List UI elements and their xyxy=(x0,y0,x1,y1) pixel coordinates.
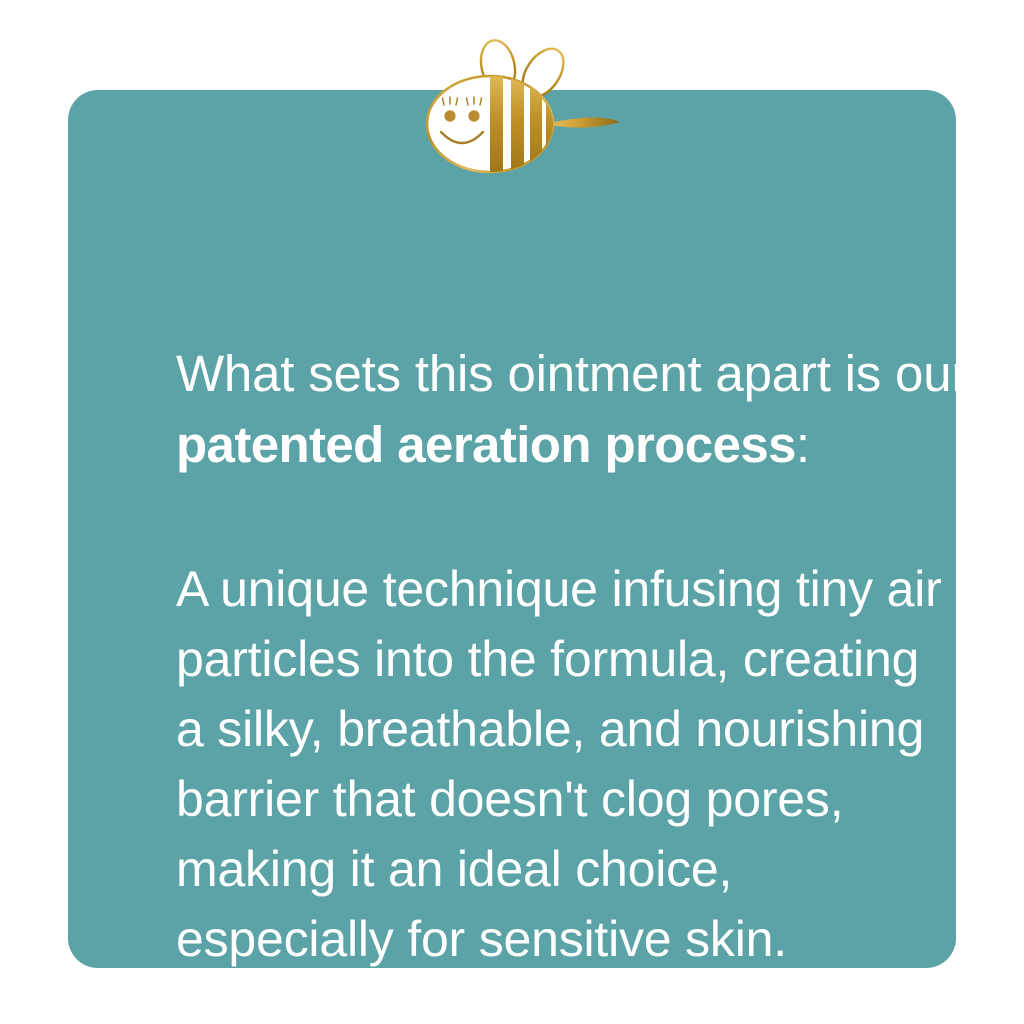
body-line-4: barrier that doesn't clog pores, xyxy=(176,764,1006,834)
bee-mascot-icon xyxy=(404,28,634,180)
body-line-2: particles into the formula, creating xyxy=(176,624,1006,694)
bee-eye-right xyxy=(468,110,479,121)
body-line-1: A unique technique infusing tiny air xyxy=(176,554,1006,624)
body-line-3: a silky, breathable, and nourishing xyxy=(176,694,1006,764)
page-root: What sets this ointment apart is our pat… xyxy=(0,0,1024,1024)
lede-emphasis: patented aeration process xyxy=(176,416,796,473)
body-paragraph: A unique technique infusing tiny airpart… xyxy=(176,554,1006,974)
lede-text-after: : xyxy=(796,416,810,473)
card-text-block: What sets this ointment apart is our pat… xyxy=(176,338,1006,974)
info-card: What sets this ointment apart is our pat… xyxy=(68,90,956,968)
lede-paragraph: What sets this ointment apart is our pat… xyxy=(176,338,1006,480)
bee-stinger xyxy=(544,118,620,128)
lede-text-before: What sets this ointment apart is our xyxy=(176,345,968,402)
body-line-6: especially for sensitive skin. xyxy=(176,904,1006,974)
bee-eye-left xyxy=(444,110,455,121)
body-line-5: making it an ideal choice, xyxy=(176,834,1006,904)
